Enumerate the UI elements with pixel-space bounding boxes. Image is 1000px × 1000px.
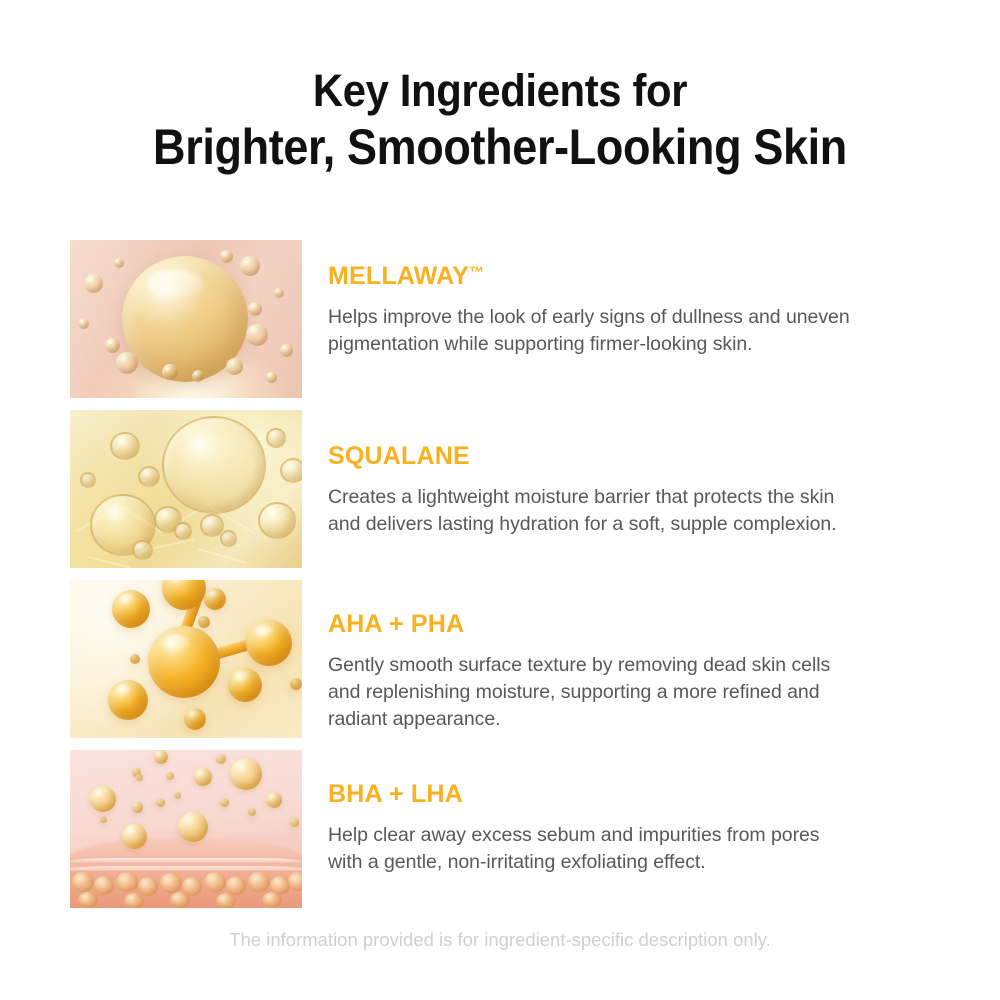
skin-layers-image xyxy=(70,750,302,908)
ingredient-item: MELLAWAY™ Helps improve the look of earl… xyxy=(70,240,930,410)
ingredient-item: AHA + PHA Gently smooth surface texture … xyxy=(70,580,930,750)
ingredient-name-text: BHA + LHA xyxy=(328,780,463,808)
ingredient-name: MELLAWAY™ xyxy=(328,258,928,291)
ingredient-description: Gently smooth surface texture by removin… xyxy=(328,652,928,733)
ingredient-description: Helps improve the look of early signs of… xyxy=(328,304,928,358)
page-title-line-1: Key Ingredients for xyxy=(35,64,965,118)
ingredient-infographic: Key Ingredients for Brighter, Smoother-L… xyxy=(0,0,1000,1000)
ingredient-item: BHA + LHA Help clear away excess sebum a… xyxy=(70,750,930,920)
page-title-line-2: Brighter, Smoother-Looking Skin xyxy=(50,118,950,176)
ingredient-copy: SQUALANE Creates a lightweight moisture … xyxy=(328,438,928,538)
ingredient-name-text: MELLAWAY xyxy=(328,262,469,290)
footer-disclaimer: The information provided is for ingredie… xyxy=(0,928,1000,952)
oil-bubbles-image xyxy=(70,410,302,568)
ingredient-name: SQUALANE xyxy=(328,438,928,471)
molecule-image xyxy=(70,580,302,738)
ingredient-description: Creates a lightweight moisture barrier t… xyxy=(328,484,928,538)
ingredient-name: AHA + PHA xyxy=(328,606,928,639)
ingredient-list: MELLAWAY™ Helps improve the look of earl… xyxy=(70,240,930,920)
ingredient-copy: AHA + PHA Gently smooth surface texture … xyxy=(328,606,928,733)
ingredient-description: Help clear away excess sebum and impurit… xyxy=(328,822,928,876)
trademark-symbol: ™ xyxy=(469,264,484,281)
ingredient-copy: BHA + LHA Help clear away excess sebum a… xyxy=(328,776,928,876)
golden-sphere-image xyxy=(70,240,302,398)
ingredient-name: BHA + LHA xyxy=(328,776,928,809)
ingredient-item: SQUALANE Creates a lightweight moisture … xyxy=(70,410,930,580)
ingredient-name-text: AHA + PHA xyxy=(328,610,464,638)
page-title: Key Ingredients for Brighter, Smoother-L… xyxy=(0,64,1000,176)
ingredient-name-text: SQUALANE xyxy=(328,442,470,470)
ingredient-copy: MELLAWAY™ Helps improve the look of earl… xyxy=(328,258,928,358)
